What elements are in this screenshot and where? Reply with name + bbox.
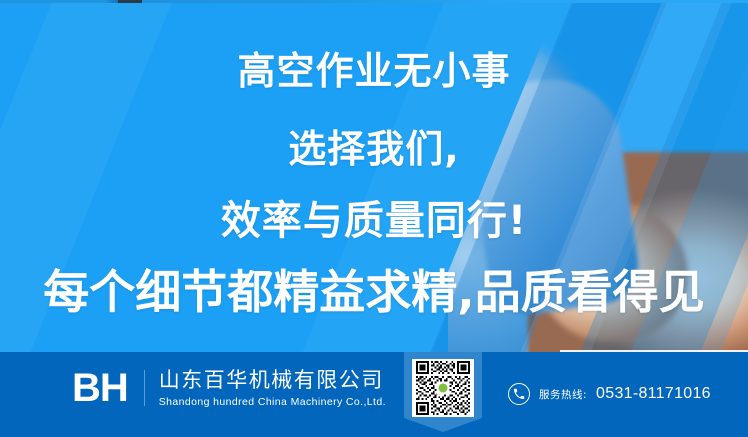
hotline-label: 服务热线: <box>539 387 587 402</box>
company-brand[interactable]: BH 山东百华机械有限公司 Shandong hundred China Mac… <box>72 368 386 408</box>
headline-line-1: 高空作业无小事 <box>0 40 748 95</box>
headline-line-4: 每个细节都精益求精,品质看得见 <box>0 256 748 322</box>
qr-center-logo <box>437 382 450 395</box>
footer-hairline <box>560 350 748 352</box>
headline-line-3: 效率与质量同行! <box>0 188 748 246</box>
top-accent-strip <box>0 0 748 3</box>
company-name-cn: 山东百华机械有限公司 <box>159 368 386 392</box>
company-name-en: Shandong hundred China Machinery Co.,Ltd… <box>159 396 386 408</box>
phone-icon <box>508 383 530 405</box>
top-notch-mark <box>118 0 142 3</box>
headline-line-2: 选择我们, <box>0 118 748 173</box>
hotline-number[interactable]: 0531-81171016 <box>596 385 711 403</box>
service-hotline[interactable]: 服务热线: 0531-81171016 <box>508 383 711 405</box>
brand-divider <box>144 370 145 406</box>
headline-block: 高空作业无小事 选择我们, 效率与质量同行! 每个细节都精益求精,品质看得见 <box>0 0 748 352</box>
footer-bar: BH 山东百华机械有限公司 Shandong hundred China Mac… <box>0 352 748 437</box>
qr-ribbon <box>404 352 482 432</box>
brand-text-group: 山东百华机械有限公司 Shandong hundred China Machin… <box>159 368 386 407</box>
hero-section: 高空作业无小事 选择我们, 效率与质量同行! 每个细节都精益求精,品质看得见 <box>0 0 748 352</box>
qr-code[interactable] <box>412 359 474 417</box>
brand-logo-mark: BH <box>72 368 128 408</box>
promo-banner: 高空作业无小事 选择我们, 效率与质量同行! 每个细节都精益求精,品质看得见 B… <box>0 0 748 437</box>
qr-code-image <box>414 361 472 415</box>
